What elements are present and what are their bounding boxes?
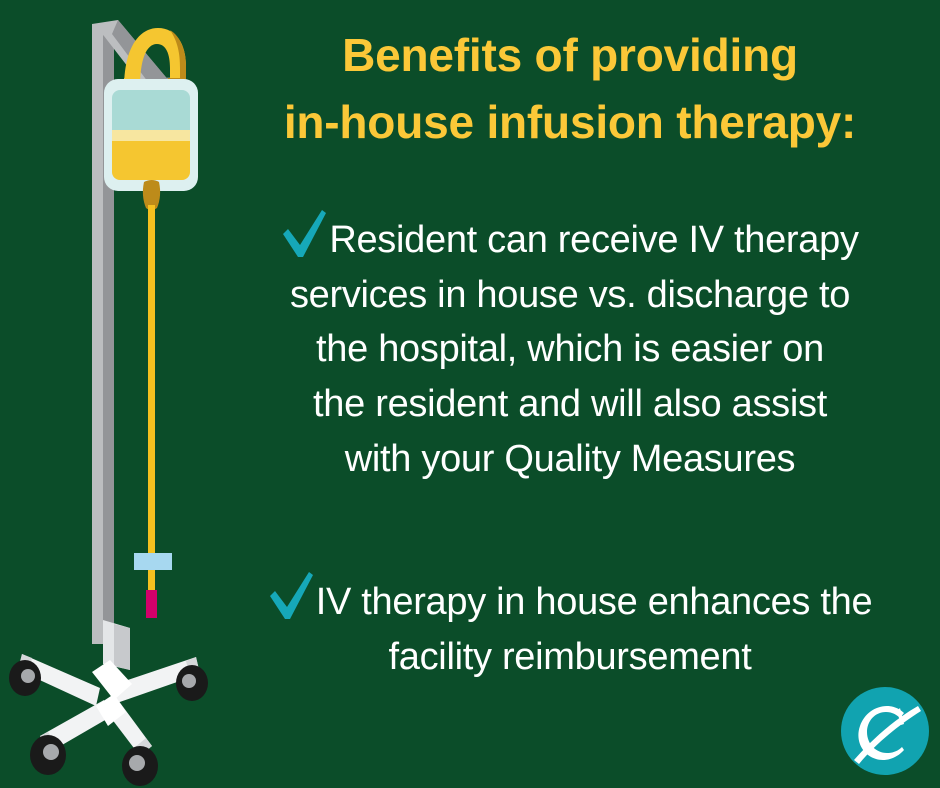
benefit-item-2: IV therapy in house enhances the facilit… — [200, 570, 940, 684]
pole-shaft-light — [92, 24, 103, 644]
benefit-2-line-2: facility reimbursement — [200, 630, 940, 685]
caster-hub-back-left — [21, 669, 35, 683]
benefit-1-line-2: services in house vs. discharge to — [200, 268, 940, 323]
benefit-1-line-3: the hospital, which is easier on — [200, 322, 940, 377]
iv-tube-lower — [148, 570, 155, 592]
caster-hub-back-right — [182, 674, 196, 688]
iv-bag-fluid-bottom — [112, 141, 190, 180]
poster-canvas: Benefits of providing in-house infusion … — [0, 0, 940, 788]
iv-cannula-tip — [146, 590, 157, 618]
benefit-item-1: Resident can receive IV therapy services… — [200, 208, 940, 487]
benefit-1-line-1-row: Resident can receive IV therapy — [200, 208, 940, 268]
benefit-1-line-5: with your Quality Measures — [200, 432, 940, 487]
title-line-2: in-house infusion therapy: — [200, 89, 940, 156]
check-icon — [281, 208, 327, 260]
benefit-2-line-1: IV therapy in house enhances the — [316, 581, 873, 623]
company-logo[interactable] — [838, 684, 932, 778]
content-column: Benefits of providing in-house infusion … — [200, 0, 940, 788]
page-title: Benefits of providing in-house infusion … — [200, 22, 940, 156]
benefit-1-line-4: the resident and will also assist — [200, 377, 940, 432]
iv-roller-clamp — [134, 553, 172, 570]
check-icon — [268, 570, 314, 622]
benefit-2-line-1-row: IV therapy in house enhances the — [200, 570, 940, 630]
iv-tube — [148, 205, 155, 560]
pole-base-collar-shade — [114, 624, 130, 670]
iv-bag-fluid-top — [112, 90, 190, 130]
benefit-1-line-1: Resident can receive IV therapy — [329, 219, 858, 261]
iv-bag-fluid-band — [112, 130, 190, 141]
title-line-1: Benefits of providing — [200, 22, 940, 89]
caster-hub-front-right — [129, 755, 145, 771]
caster-hub-front-left — [43, 744, 59, 760]
